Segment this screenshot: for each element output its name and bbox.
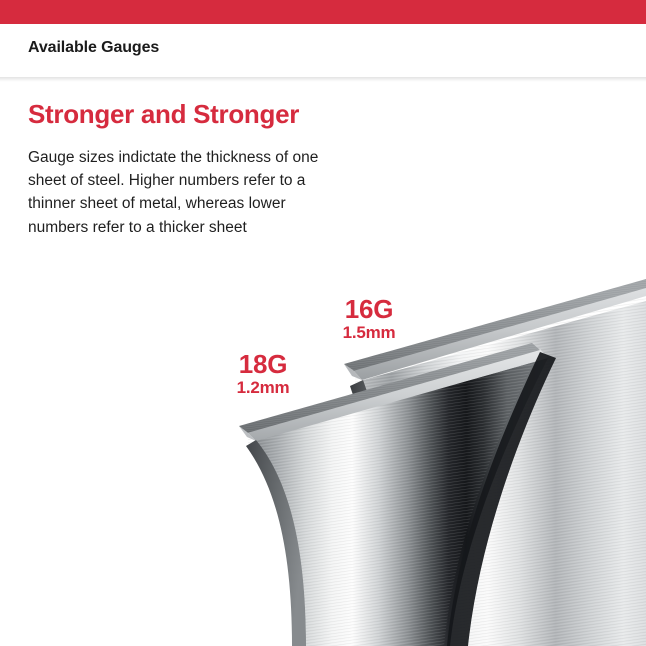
page-title: Available Gauges [28,39,159,57]
copy-block: Stronger and Stronger Gauge sizes indict… [28,100,348,239]
gauge-callout-16g: 16G 1.5mm [330,296,408,345]
gauge-thickness-18g: 1.2mm [224,377,302,400]
page-title-strip: Available Gauges [0,24,646,77]
steel-sheet-illustration [0,0,646,646]
header-divider [0,77,646,82]
gauge-callout-18g: 18G 1.2mm [224,351,302,400]
gauge-code-16g: 16G [330,296,408,322]
headline: Stronger and Stronger [28,100,348,130]
body-paragraph: Gauge sizes indictate the thickness of o… [28,146,330,239]
top-accent-bar [0,0,646,24]
gauge-code-18g: 18G [224,351,302,377]
page-root: Available Gauges [0,0,646,646]
gauge-thickness-16g: 1.5mm [330,322,408,345]
